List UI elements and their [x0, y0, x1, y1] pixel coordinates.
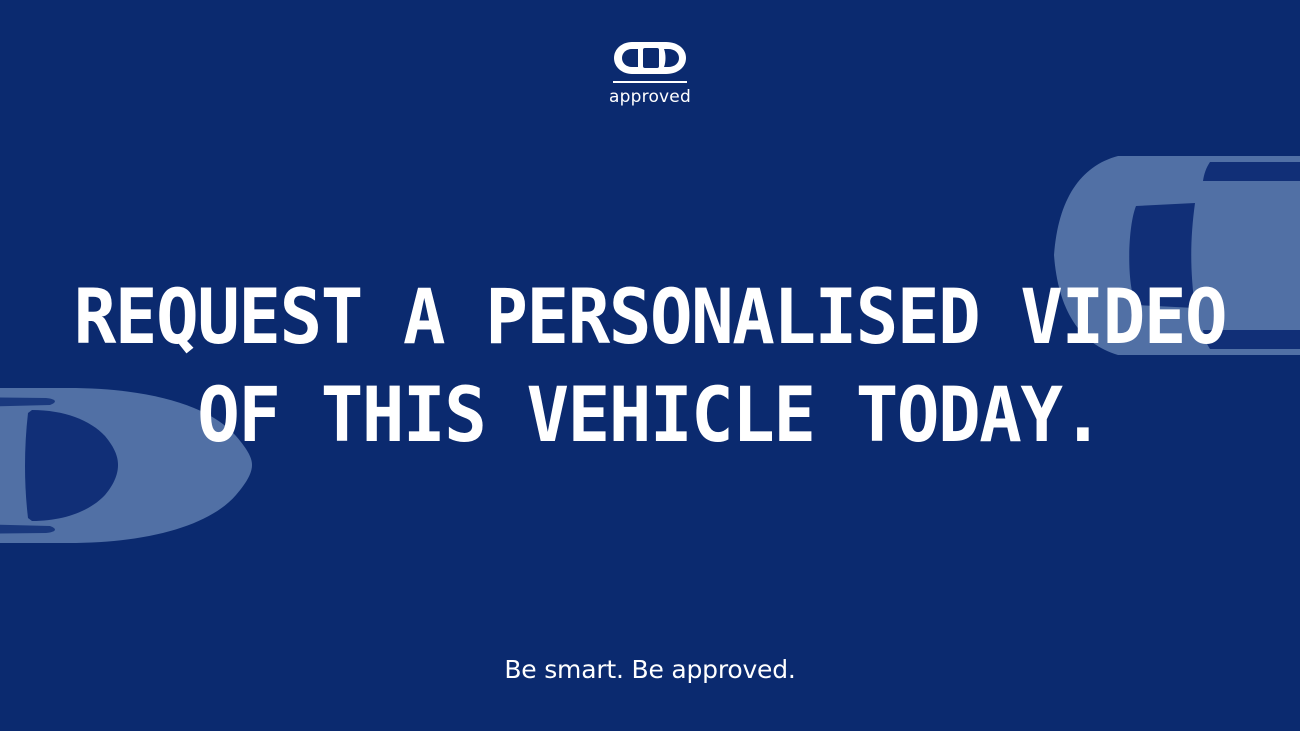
page-title: REQUEST A PERSONALISED VIDEO OF THIS VEH… [0, 268, 1300, 464]
brand-tagline: Be smart. Be approved. [0, 655, 1300, 685]
logo-wordmark: approved [609, 89, 691, 106]
car-top-view-icon [612, 40, 688, 76]
headline-line-1: REQUEST A PERSONALISED VIDEO [46, 268, 1255, 366]
brand-logo: approved [0, 40, 1300, 106]
logo-divider-rule [613, 81, 687, 83]
headline-line-2: OF THIS VEHICLE TODAY. [46, 366, 1255, 464]
promo-banner: approved REQUEST A PERSONALISED VIDEO OF… [0, 0, 1300, 731]
